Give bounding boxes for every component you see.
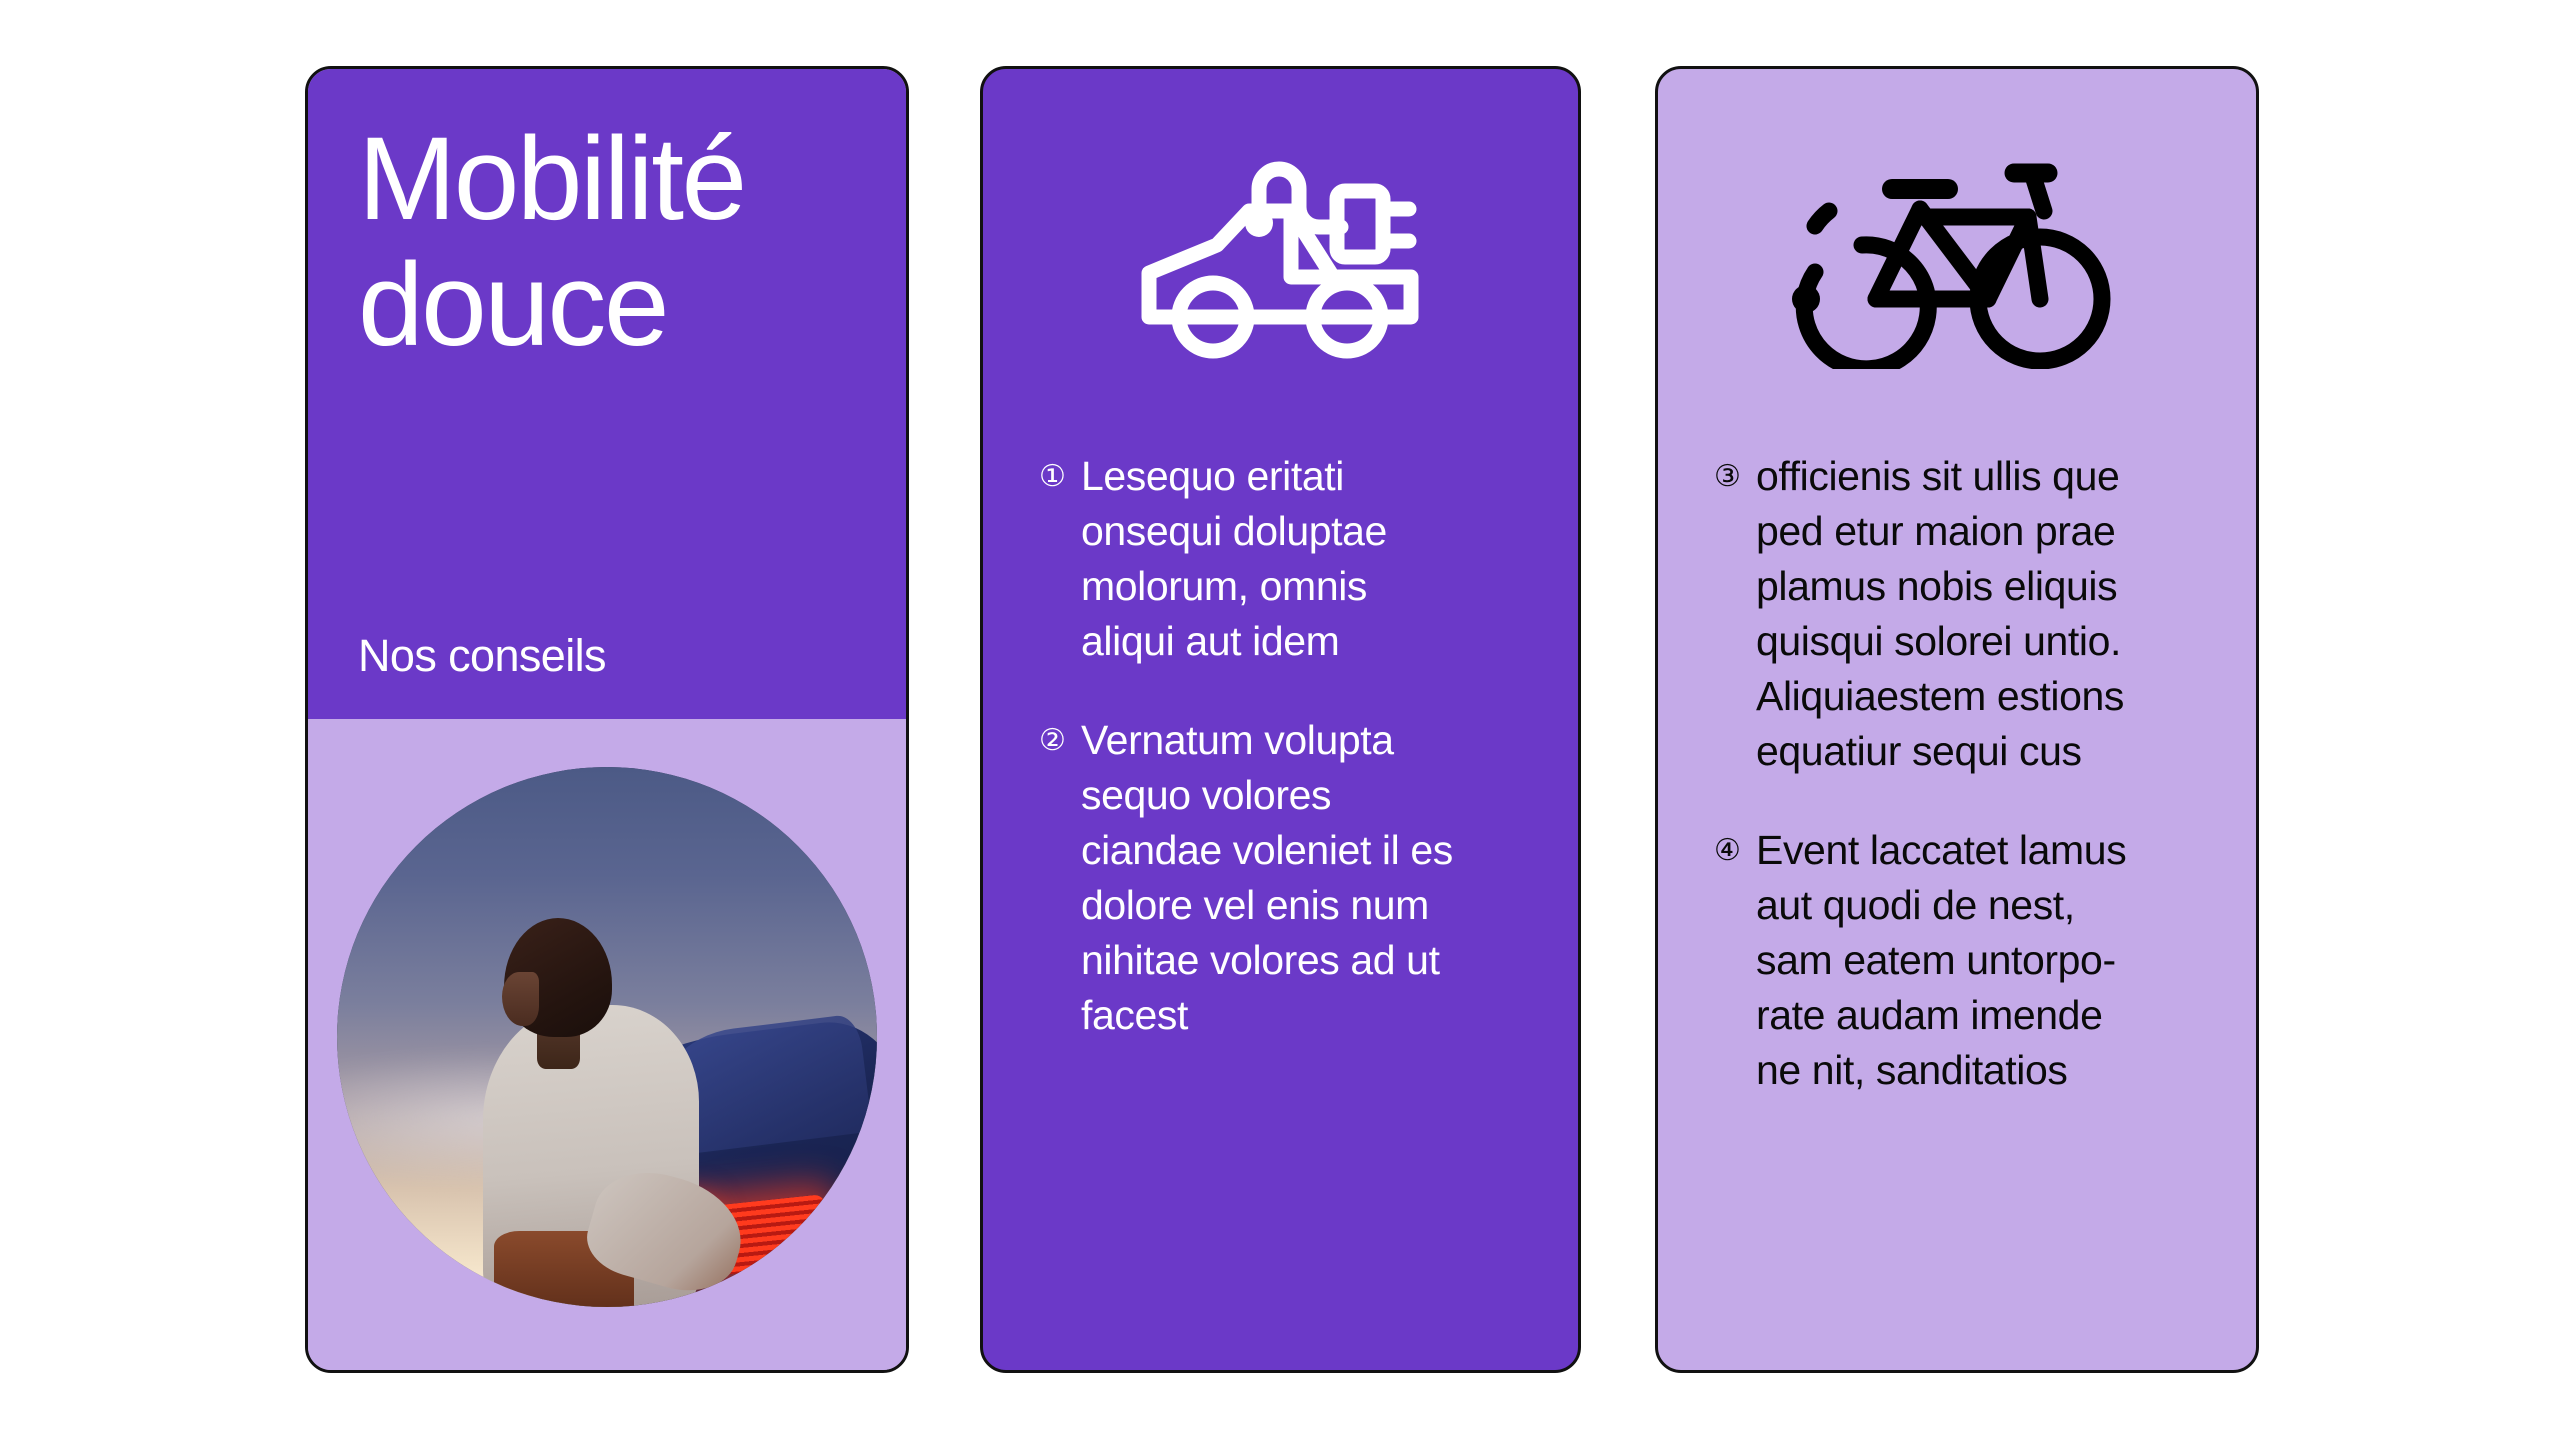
bicycle-icon [1792, 149, 2122, 369]
card-intro[interactable]: Mobilité douce Nos conseils [305, 66, 909, 1373]
card-ev-list-zone: ① Lesequo eritati onsequi doluptae molor… [983, 449, 1578, 1043]
numbered-list-bike: ③ officienis sit ullis que ped etur maio… [1714, 449, 2200, 1098]
list-item-text: Lesequo eritati onsequi doluptae molorum… [1081, 449, 1522, 669]
slide-canvas: Mobilité douce Nos conseils [0, 0, 2560, 1440]
card-bicycle[interactable]: ③ officienis sit ullis que ped etur maio… [1655, 66, 2259, 1373]
list-item-number: ② [1039, 713, 1081, 768]
list-item[interactable]: ① Lesequo eritati onsequi doluptae molor… [1039, 449, 1522, 669]
card-electric-vehicle[interactable]: ① Lesequo eritati onsequi doluptae molor… [980, 66, 1581, 1373]
list-item-number: ① [1039, 449, 1081, 504]
card-intro-subtitle: Nos conseils [358, 629, 606, 683]
photo-portrait [337, 767, 877, 1307]
card-ev-icon-zone [983, 69, 1578, 449]
list-item-text: Vernatum volupta sequo volores ciandae v… [1081, 713, 1522, 1043]
card-bike-list-zone: ③ officienis sit ullis que ped etur maio… [1658, 449, 2256, 1098]
list-item[interactable]: ③ officienis sit ullis que ped etur maio… [1714, 449, 2200, 779]
list-item-number: ④ [1714, 823, 1756, 878]
page-title: Mobilité douce [358, 116, 856, 368]
card-intro-photo-area [308, 719, 906, 1373]
list-item-text: Event laccatet lamus aut quodi de nest, … [1756, 823, 2200, 1098]
electric-car-icon [1131, 149, 1431, 369]
list-item-text: officienis sit ullis que ped etur maion … [1756, 449, 2200, 779]
numbered-list-ev: ① Lesequo eritati onsequi doluptae molor… [1039, 449, 1522, 1043]
list-item[interactable]: ④ Event laccatet lamus aut quodi de nest… [1714, 823, 2200, 1098]
list-item[interactable]: ② Vernatum volupta sequo volores ciandae… [1039, 713, 1522, 1043]
card-bike-icon-zone [1658, 69, 2256, 449]
card-intro-header: Mobilité douce Nos conseils [308, 69, 906, 719]
list-item-number: ③ [1714, 449, 1756, 504]
